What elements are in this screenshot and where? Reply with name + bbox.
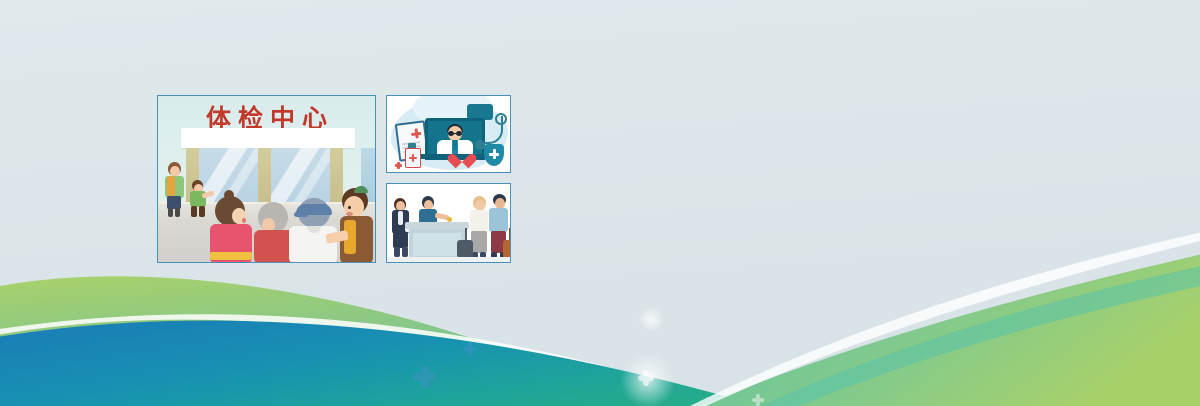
- medicine-bottle-icon: [405, 148, 421, 168]
- cross-icon: [409, 154, 417, 162]
- cross-icon: [414, 366, 436, 388]
- panel-online-doctor-consultation[interactable]: [386, 95, 511, 173]
- reception-desk-top: [405, 222, 469, 229]
- reception-desk-panel: [413, 233, 461, 256]
- teal-wave-overlay: [760, 262, 1200, 406]
- cross-icon: [489, 149, 499, 159]
- entrance-illustration: 体检中心: [158, 96, 375, 262]
- blank-sign-board: [181, 128, 355, 148]
- cross-icon: [638, 370, 654, 386]
- panel-health-examination-center-entrance[interactable]: 体检中心: [157, 95, 376, 263]
- glow-spot: [638, 306, 664, 332]
- green-wave-left: [0, 276, 640, 406]
- green-wave-right-highlight: [690, 228, 1200, 406]
- telemedicine-illustration: [387, 96, 510, 172]
- cross-icon: [463, 342, 477, 356]
- glass-door: [271, 148, 330, 203]
- reception-illustration: [387, 184, 510, 262]
- cross-icon: [395, 162, 402, 169]
- cross-icon: [752, 394, 764, 406]
- stethoscope-earpiece: [495, 113, 507, 125]
- green-wave-right: [700, 250, 1200, 406]
- facade-pillar: [258, 148, 271, 203]
- floor-line: [387, 257, 510, 262]
- image-collage: 体检中心: [157, 95, 511, 263]
- suitcase-icon: [457, 240, 473, 258]
- suitcase-icon: [503, 240, 511, 258]
- banner-stage: 体检中心: [0, 0, 1200, 406]
- cross-icon: [411, 128, 422, 139]
- panel-reception-desk-check-in[interactable]: [386, 183, 511, 263]
- heart-icon: [453, 148, 471, 164]
- facade-pillar: [330, 148, 343, 203]
